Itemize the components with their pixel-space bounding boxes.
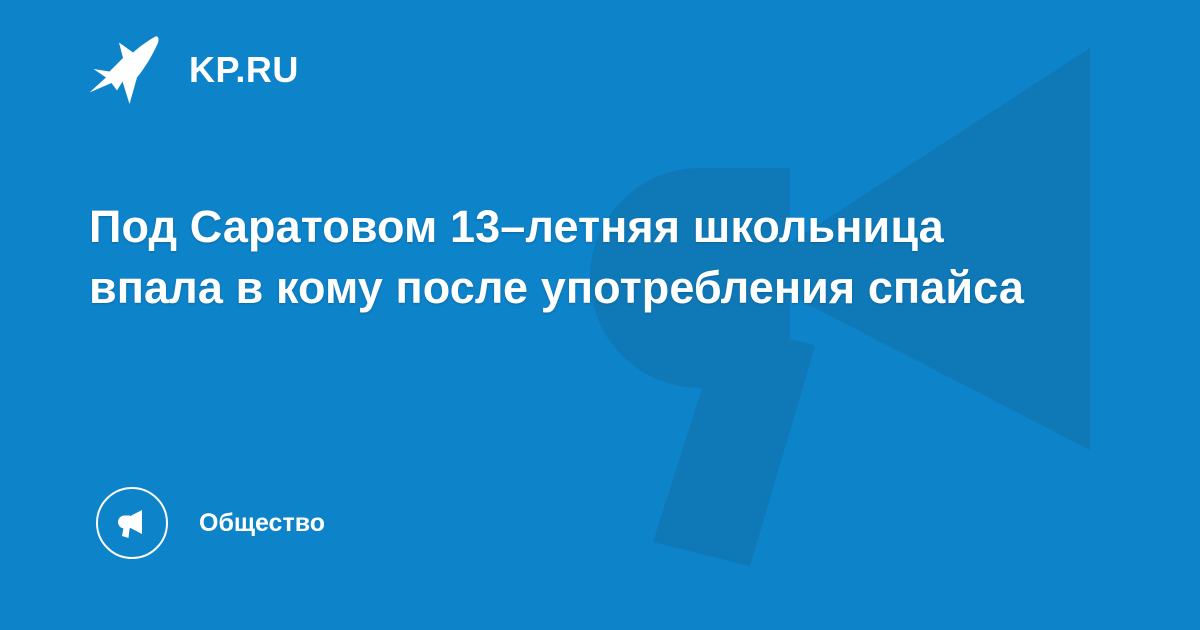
- share-card: KP.RU Под Саратовом 13–летняя школьница …: [0, 0, 1200, 630]
- page-title: Под Саратовом 13–летняя школьница впала …: [89, 196, 1039, 318]
- kp-swallow-bird-logo: [89, 35, 163, 105]
- brand-name: KP.RU: [189, 52, 299, 88]
- brand-header: KP.RU: [89, 36, 299, 104]
- megaphone-icon: [113, 504, 151, 542]
- category-badge: [96, 487, 168, 559]
- category-label: Общество: [199, 511, 325, 536]
- category-row[interactable]: Общество: [96, 487, 325, 559]
